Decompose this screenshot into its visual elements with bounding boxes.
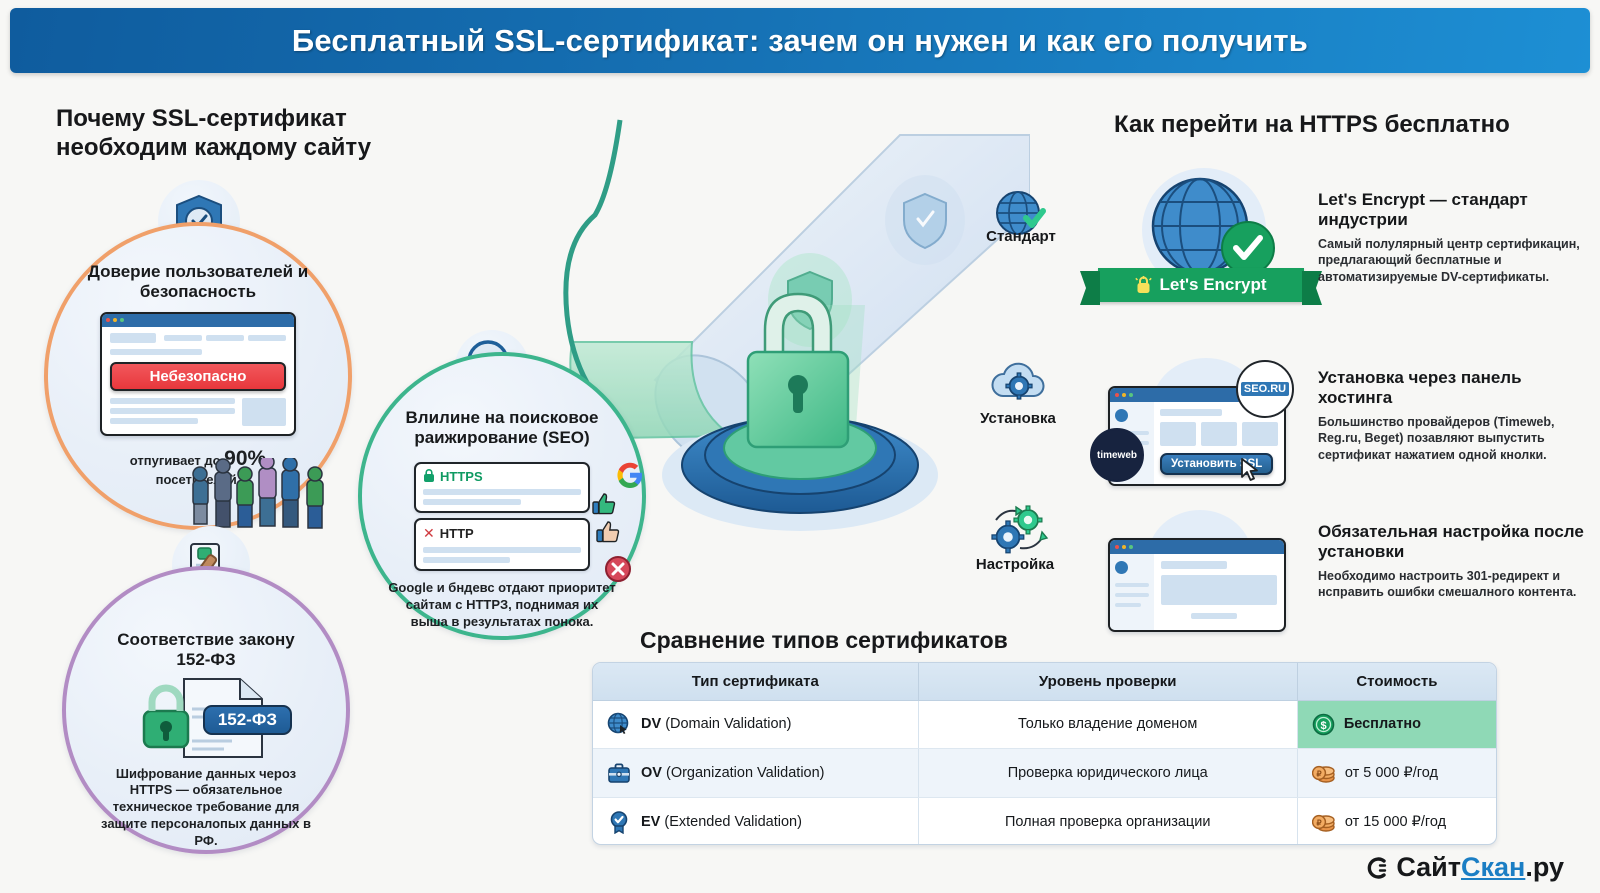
- law-document-illustration: 152-ФЗ: [122, 675, 290, 760]
- page-header-banner: Бесплатный SSL-сертификат: зачем он нуже…: [10, 8, 1590, 73]
- cursor-pointer-icon: [1240, 458, 1262, 482]
- cell-cost: $ Бесплатно: [1297, 700, 1496, 749]
- placeholder-line: [1115, 593, 1149, 597]
- hosting-panel-art: Установить SSL SEO.RU timeweb: [1100, 362, 1296, 486]
- right-item-title: Обязательная настройка после установки: [1318, 522, 1588, 563]
- right-item-lets-encrypt: Let's Encrypt — стандарт индустрии Самый…: [1318, 190, 1588, 286]
- lock-icon: [423, 469, 435, 483]
- bubble-seo-caption: Google и бндевс отдают приоритет сайтам …: [386, 580, 618, 631]
- scan-logo-icon: [1365, 856, 1389, 880]
- seo-ru-badge: SEO.RU: [1236, 360, 1294, 418]
- seo-row-https: HTTPS: [414, 462, 590, 513]
- site-logo[interactable]: СайтСкан.ру: [1365, 852, 1564, 883]
- ruble-coins-icon: ₽: [1312, 762, 1336, 784]
- window-min-dot: [1122, 545, 1126, 549]
- placeholder-line: [1160, 409, 1222, 416]
- insecure-browser-mock: Небезопасно: [100, 312, 296, 436]
- svg-text:₽: ₽: [1316, 818, 1321, 827]
- https-text: HTTPS: [440, 469, 483, 484]
- lets-encrypt-ribbon: Let's Encrypt: [1098, 268, 1304, 302]
- step-label-standard: Стандарт: [961, 228, 1081, 245]
- placeholder-line: [110, 408, 235, 414]
- cell-type: OV (Organization Validation): [593, 749, 918, 798]
- window-close-dot: [1115, 545, 1119, 549]
- panel-titlebar: [1110, 540, 1284, 554]
- page-title: Бесплатный SSL-сертификат: зачем он нуже…: [292, 23, 1308, 59]
- cross-icon: ✕: [423, 525, 435, 542]
- cell-level: Только владение доменом: [918, 700, 1297, 749]
- bubble-seo-ranking: Влилине на поисковое раижирование (SEO) …: [358, 352, 646, 640]
- right-item-body: Необходимо настроить 301-редирект и нспр…: [1318, 568, 1588, 601]
- table-section-title: Сравнение типов сертификатов: [640, 626, 1008, 654]
- http-text: HTTP: [440, 526, 474, 541]
- https-row-label: HTTPS: [423, 469, 581, 484]
- table-row: DV (Domain Validation) Только владение д…: [593, 700, 1496, 749]
- bubble-law-compliance: Соответствие закону 152-ФЗ 152-ФЗ Шифров…: [62, 566, 350, 854]
- globe-cursor-icon: [607, 712, 631, 736]
- column-header-cost: Стоимость: [1297, 663, 1496, 700]
- window-close-dot: [1115, 393, 1119, 397]
- table-row: EV (Extended Validation) Полная проверка…: [593, 797, 1496, 845]
- settings-panel-art: [1100, 516, 1296, 632]
- placeholder-line: [248, 335, 286, 341]
- window-max-dot: [1129, 393, 1133, 397]
- placeholder-block: [242, 398, 286, 426]
- window-max-dot: [120, 318, 124, 322]
- error-cross-badge-icon: [604, 555, 632, 588]
- placeholder-line: [110, 398, 235, 404]
- panel-sidebar: [1110, 554, 1154, 632]
- http-row-label: ✕ HTTP: [423, 525, 581, 542]
- right-item-body: Большинство провайдеров (Timeweb, Reg.ru…: [1318, 414, 1588, 464]
- type-name: (Domain Validation): [665, 716, 791, 732]
- bubble-law-caption: Шифрование данных чероз HTTPS — обязател…: [93, 766, 319, 850]
- cost-value: от 15 000 ₽/год: [1345, 814, 1446, 830]
- sidebar-avatar: [1115, 561, 1128, 574]
- panel-main: [1154, 554, 1284, 632]
- rosette-check-icon: [607, 810, 631, 834]
- briefcase-icon: [607, 761, 631, 785]
- placeholder-card: [1242, 422, 1278, 446]
- cost-value: от 5 000 ₽/год: [1345, 765, 1438, 781]
- lets-encrypt-label: Let's Encrypt: [1159, 275, 1266, 295]
- placeholder-line: [423, 489, 581, 495]
- placeholder-line: [1115, 583, 1149, 587]
- cell-level: Полная проверка организации: [918, 797, 1297, 845]
- placeholder-line: [1191, 613, 1237, 619]
- svg-text:₽: ₽: [1316, 769, 1321, 778]
- logo-part-3: .ру: [1525, 852, 1564, 882]
- placeholder-line: [110, 418, 198, 424]
- bubble-seo-title: Влилине на поисковое раижирование (SEO): [389, 408, 615, 449]
- type-name: (Extended Validation): [664, 814, 802, 830]
- bubble-trust-title: Доверие пользователей и безопасность: [73, 262, 323, 303]
- type-code: EV: [641, 814, 660, 830]
- cloud-gear-icon: [988, 356, 1050, 409]
- type-code: OV: [641, 765, 662, 781]
- seo-row-http: ✕ HTTP: [414, 518, 590, 571]
- window-min-dot: [113, 318, 117, 322]
- placeholder-line: [423, 547, 581, 553]
- infographic-root: Бесплатный SSL-сертификат: зачем он нуже…: [0, 0, 1600, 893]
- certificate-comparison-table: Тип сертификата Уровень проверки Стоимос…: [592, 662, 1497, 845]
- dollar-coin-icon: $: [1312, 713, 1335, 736]
- right-item-post-install: Обязательная настройка после установки Н…: [1318, 522, 1588, 601]
- right-item-title: Установка через панель хостинга: [1318, 368, 1588, 409]
- placeholder-card: [1160, 422, 1196, 446]
- insecure-warning-badge: Небезопасно: [110, 362, 286, 391]
- type-code: DV: [641, 716, 661, 732]
- placeholder-block: [110, 333, 156, 343]
- window-min-dot: [1122, 393, 1126, 397]
- thumbs-up-skin-icon: [596, 519, 622, 550]
- left-section-title: Почему SSL-сертификат необходим каждому …: [56, 104, 436, 163]
- browser-titlebar: [102, 314, 294, 327]
- lock-glow-icon: [1135, 276, 1152, 295]
- placeholder-line: [423, 557, 510, 563]
- settings-browser-panel: [1108, 538, 1286, 632]
- window-max-dot: [1129, 545, 1133, 549]
- cell-type: DV (Domain Validation): [593, 700, 918, 749]
- svg-text:$: $: [1320, 720, 1326, 732]
- gears-sync-icon: [986, 504, 1050, 561]
- right-item-title: Let's Encrypt — стандарт индустрии: [1318, 190, 1588, 231]
- right-section-title: Как перейти на HTTPS бесплатно: [1114, 110, 1574, 139]
- column-header-level: Уровень проверки: [918, 663, 1297, 700]
- type-name: (Organization Validation): [666, 765, 825, 781]
- law-number-chip: 152-ФЗ: [203, 705, 292, 735]
- cell-cost: ₽ от 15 000 ₽/год: [1297, 797, 1496, 845]
- placeholder-card: [1161, 575, 1277, 605]
- logo-part-1: Сайт: [1396, 852, 1461, 882]
- step-label-install: Установка: [958, 410, 1078, 427]
- seo-ru-label: SEO.RU: [1241, 382, 1289, 396]
- thumbs-up-green-icon: [592, 491, 618, 522]
- placeholder-line: [1161, 561, 1227, 569]
- placeholder-card: [1201, 422, 1237, 446]
- table-row: OV (Organization Validation) Проверка юр…: [593, 749, 1496, 798]
- timeweb-label: timeweb: [1097, 450, 1137, 461]
- bubble-law-title: Соответствие закону 152-ФЗ: [101, 630, 311, 671]
- window-close-dot: [106, 318, 110, 322]
- cell-cost: ₽ от 5 000 ₽/год: [1297, 749, 1496, 798]
- cell-type: EV (Extended Validation): [593, 797, 918, 845]
- column-header-type: Тип сертификата: [593, 663, 918, 700]
- cell-level: Проверка юридического лица: [918, 749, 1297, 798]
- placeholder-line: [206, 335, 244, 341]
- right-item-body: Самый полулярный центр сертификацин, пре…: [1318, 236, 1588, 286]
- placeholder-line: [423, 499, 521, 505]
- placeholder-line: [110, 349, 202, 355]
- table-header-row: Тип сертификата Уровень проверки Стоимос…: [593, 663, 1496, 700]
- step-label-settings: Настройка: [955, 556, 1075, 573]
- ruble-coins-icon: ₽: [1312, 811, 1336, 833]
- cost-value: Бесплатно: [1344, 716, 1421, 732]
- google-logo-icon: [616, 461, 644, 494]
- sidebar-avatar: [1115, 409, 1128, 422]
- placeholder-line: [1115, 603, 1141, 607]
- logo-part-2: Скан: [1461, 852, 1525, 882]
- browser-content: Небезопасно: [102, 327, 294, 434]
- right-item-hosting-panel: Установка через панель хостинга Большинс…: [1318, 368, 1588, 464]
- timeweb-badge: timeweb: [1090, 428, 1144, 482]
- placeholder-line: [164, 335, 202, 341]
